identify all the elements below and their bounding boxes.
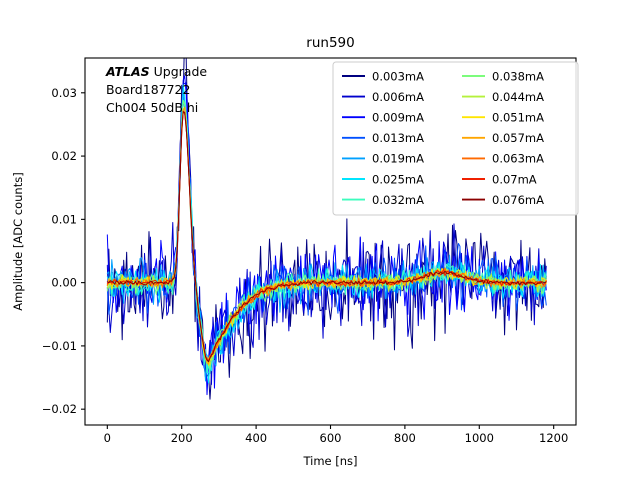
xticklabel-200: 200 [171,431,193,445]
legend-label: 0.009mA [372,111,424,125]
yticklabel-0.03: 0.03 [51,86,77,100]
legend-label: 0.013mA [372,131,424,145]
annotation-atlas-label: ATLAS [105,64,150,79]
legend-label: 0.076mA [492,193,544,207]
legend-label: 0.051mA [492,111,544,125]
annotation-upgrade-label: Upgrade [150,64,208,79]
legend: 0.003mA0.038mA0.006mA0.044mA0.009mA0.051… [333,62,578,215]
legend-label: 0.07mA [492,172,537,186]
yticklabel--0.02: −0.02 [42,402,77,416]
xticklabel-0: 0 [104,431,111,445]
xticklabel-800: 800 [394,431,416,445]
annotation-line-3: Ch004 50dB hi [106,100,198,115]
legend-label: 0.032mA [372,193,424,207]
xticklabel-1000: 1000 [465,431,494,445]
legend-label: 0.057mA [492,131,544,145]
xticklabel-1200: 1200 [539,431,568,445]
yticklabel-0: 0.00 [51,276,77,290]
y-axis-label: Amplitude [ADC counts] [11,172,25,310]
chart-plot: 020040060080010001200−0.02−0.010.000.010… [0,0,640,480]
xticklabel-600: 600 [320,431,342,445]
chart-title: run590 [306,35,354,51]
legend-label: 0.019mA [372,152,424,166]
annotation-line-1: ATLAS Upgrade [105,64,207,79]
legend-label: 0.025mA [372,172,424,186]
legend-label: 0.038mA [492,69,544,83]
figure-canvas: 020040060080010001200−0.02−0.010.000.010… [0,0,640,480]
legend-label: 0.063mA [492,152,544,166]
legend-label: 0.003mA [372,69,424,83]
annotation-line-2: Board187722 [106,82,190,97]
xticklabel-400: 400 [245,431,267,445]
legend-label: 0.006mA [372,90,424,104]
legend-label: 0.044mA [492,90,544,104]
yticklabel--0.01: −0.01 [42,339,77,353]
yticklabel-0.02: 0.02 [51,149,77,163]
x-axis-label: Time [ns] [302,454,357,468]
yticklabel-0.01: 0.01 [51,212,77,226]
